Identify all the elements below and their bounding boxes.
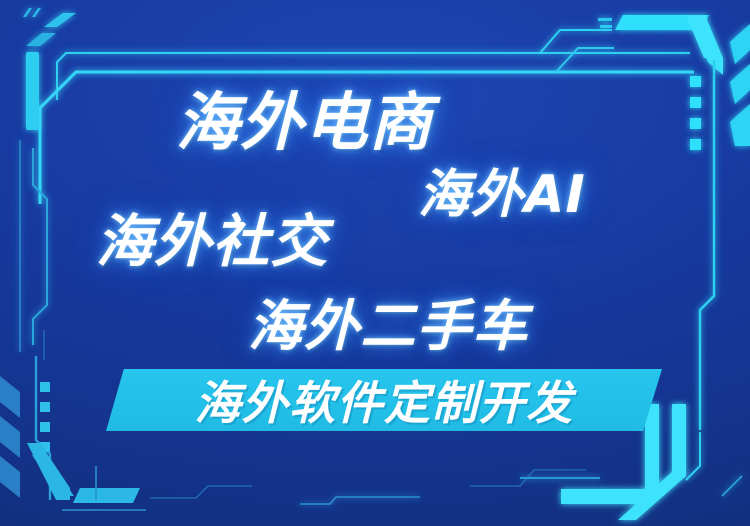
headline-overseas-ai: 海外AI: [418, 152, 586, 227]
poster-canvas: 海外电商 海外AI 海外社交 海外二手车 海外软件定制开发: [0, 0, 750, 526]
banner-label-software-custom-development: 海外软件定制开发: [106, 367, 662, 433]
headline-stack: 海外电商 海外AI 海外社交 海外二手车 海外软件定制开发: [0, 0, 750, 526]
headline-overseas-ecommerce: 海外电商: [176, 72, 433, 163]
headline-overseas-used-car: 海外二手车: [248, 281, 529, 361]
headline-overseas-social: 海外社交: [96, 196, 329, 278]
highlight-banner: 海外软件定制开发: [106, 369, 662, 431]
